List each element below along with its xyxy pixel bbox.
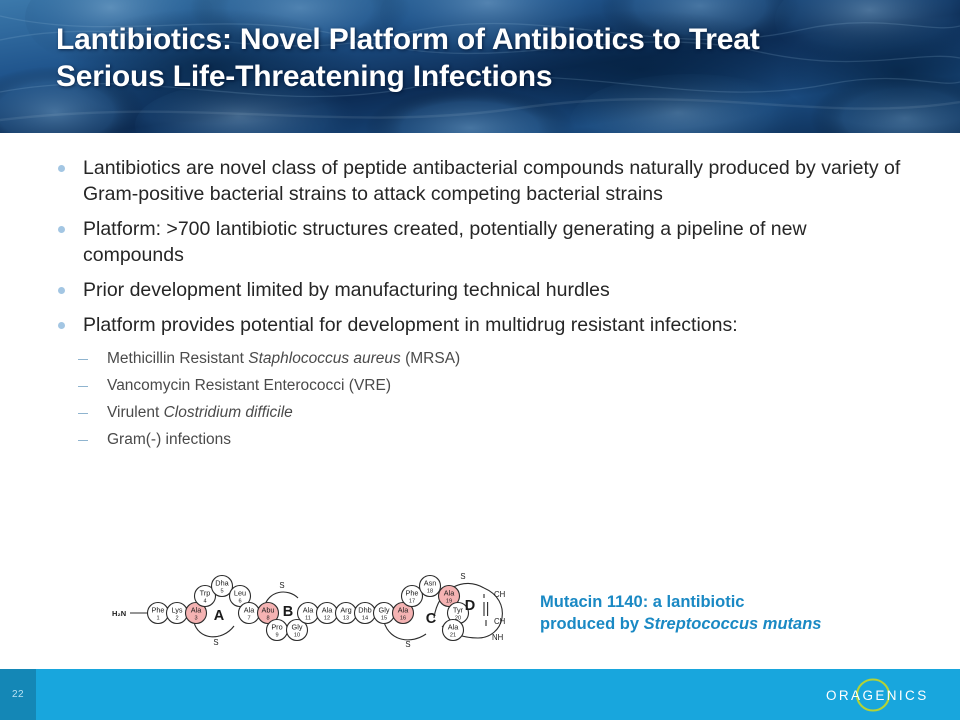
residue-number: 17 xyxy=(409,599,415,605)
residue-number: 21 xyxy=(450,633,456,639)
ring-label-c: C xyxy=(426,611,437,627)
title-banner: Lantibiotics: Novel Platform of Antibiot… xyxy=(0,0,960,133)
residue-name: Ala xyxy=(322,606,333,615)
page-title: Lantibiotics: Novel Platform of Antibiot… xyxy=(56,22,936,96)
residue-name: Gly xyxy=(292,623,303,632)
slide-title-container: Lantibiotics: Novel Platform of Antibiot… xyxy=(56,22,936,96)
residue-number: 14 xyxy=(362,616,368,622)
ring-label-b: B xyxy=(283,604,293,620)
sub-bullet-suffix: (MRSA) xyxy=(401,350,460,367)
bullet-list: Lantibiotics are novel class of peptide … xyxy=(52,156,912,456)
oragenics-logo-mark: ORAGENICS xyxy=(824,678,942,712)
sub-bullet-list: Methicillin Resistant Staphlococcus aure… xyxy=(71,348,912,451)
sub-bullet-text: Vancomycin Resistant Enterococci (VRE) xyxy=(107,377,391,394)
residue-name: Ala xyxy=(398,606,409,615)
residue-number: 6 xyxy=(238,599,241,605)
sub-bullet-item: Methicillin Resistant Staphlococcus aure… xyxy=(71,348,912,370)
residue-name: Asn xyxy=(424,579,437,588)
oragenics-logo: ORAGENICS xyxy=(824,669,942,720)
sulfur-label-ring-b: S xyxy=(279,581,284,590)
residue-name: Trp xyxy=(200,589,211,598)
residue-number: 19 xyxy=(446,599,452,605)
residue-name: Gly xyxy=(379,606,390,615)
sub-bullet-item: Gram(-) infections xyxy=(71,429,912,451)
slide-content: Lantibiotics are novel class of peptide … xyxy=(0,133,960,565)
footer-bar: 22 ORAGENICS xyxy=(0,669,960,720)
residue-number: 18 xyxy=(427,589,433,595)
sub-bullet-item: Vancomycin Resistant Enterococci (VRE) xyxy=(71,375,912,397)
residue-number: 11 xyxy=(305,616,311,622)
residue-number: 2 xyxy=(175,616,178,622)
residue-name: Lys xyxy=(171,606,182,615)
slide-title-line-1: Lantibiotics: Novel Platform of Antibiot… xyxy=(56,23,760,56)
nh-label: NH xyxy=(492,633,503,642)
residue-number: 12 xyxy=(324,616,330,622)
residue-number: 3 xyxy=(194,616,197,622)
residue-name: Leu xyxy=(234,589,246,598)
residue-number: 16 xyxy=(400,616,406,622)
sub-bullet-item: Virulent Clostridium difficile xyxy=(71,402,912,424)
residue-name: Ala xyxy=(448,623,459,632)
residue-number: 13 xyxy=(343,616,349,622)
sub-bullet-text: Virulent xyxy=(107,404,164,421)
slide-title-line-2: Serious Life-Threatening Infections xyxy=(56,60,552,93)
residue-name: Phe xyxy=(406,589,419,598)
n-terminus-label: H₂N xyxy=(112,609,126,618)
residue-name: Pro xyxy=(271,623,282,632)
logo-text: ORAGENICS xyxy=(826,688,929,703)
ring-label-d: D xyxy=(465,598,475,614)
ch-label-lower: CH xyxy=(494,617,505,626)
bullet-item: Lantibiotics are novel class of peptide … xyxy=(52,156,912,208)
residue-name: Ala xyxy=(244,606,255,615)
figure-caption: Mutacin 1140: a lantibioticproduced by S… xyxy=(540,592,940,636)
ring-label-a: A xyxy=(214,608,225,624)
residue-number: 15 xyxy=(381,616,387,622)
residue-number: 9 xyxy=(275,633,278,639)
residue-name: Abu xyxy=(262,606,275,615)
residue-name: Ala xyxy=(444,589,455,598)
residue-number: 10 xyxy=(294,633,300,639)
sub-bullet-text: Methicillin Resistant xyxy=(107,350,248,367)
residue-name: Arg xyxy=(340,606,351,615)
bullet-item: Prior development limited by manufacturi… xyxy=(52,278,912,304)
sulfur-label-ring-a: S xyxy=(213,638,218,647)
species-name: Staphlococcus aureus xyxy=(248,350,401,367)
page-number: 22 xyxy=(0,669,36,720)
residue-number: 8 xyxy=(266,616,269,622)
residue-name: Ala xyxy=(191,606,202,615)
ch-label-upper: CH xyxy=(494,590,505,599)
residue-name: Tyr xyxy=(453,606,464,615)
species-name: Clostridium difficile xyxy=(164,404,293,421)
sulfur-label-ring-d: S xyxy=(460,572,465,581)
residue-name: Ala xyxy=(303,606,314,615)
residue-name: Dhb xyxy=(358,606,371,615)
figure-caption-species: Streptococcus mutans xyxy=(644,615,822,633)
figure-caption-line-2-prefix: produced by xyxy=(540,615,644,633)
mutacin-1140-structure-diagram: H₂N Phe 1 Lys 2 Ala 3 Trp 4 Dha 5 Leu xyxy=(112,568,522,654)
sub-bullet-text: Gram(-) infections xyxy=(107,431,231,448)
residue-name: Dha xyxy=(215,579,229,588)
bullet-item: Platform: >700 lantibiotic structures cr… xyxy=(52,217,912,269)
figure-caption-line-1: Mutacin 1140: a lantibiotic xyxy=(540,593,744,611)
sulfur-label-ring-c: S xyxy=(405,640,410,649)
bullet-item: Platform provides potential for developm… xyxy=(52,313,912,339)
residue-number: 5 xyxy=(220,589,223,595)
residue-number: 7 xyxy=(247,616,250,622)
residue-name: Phe xyxy=(152,606,165,615)
residue-number: 4 xyxy=(203,599,206,605)
figure-area: H₂N Phe 1 Lys 2 Ala 3 Trp 4 Dha 5 Leu xyxy=(0,565,960,669)
residue-number: 1 xyxy=(156,616,159,622)
